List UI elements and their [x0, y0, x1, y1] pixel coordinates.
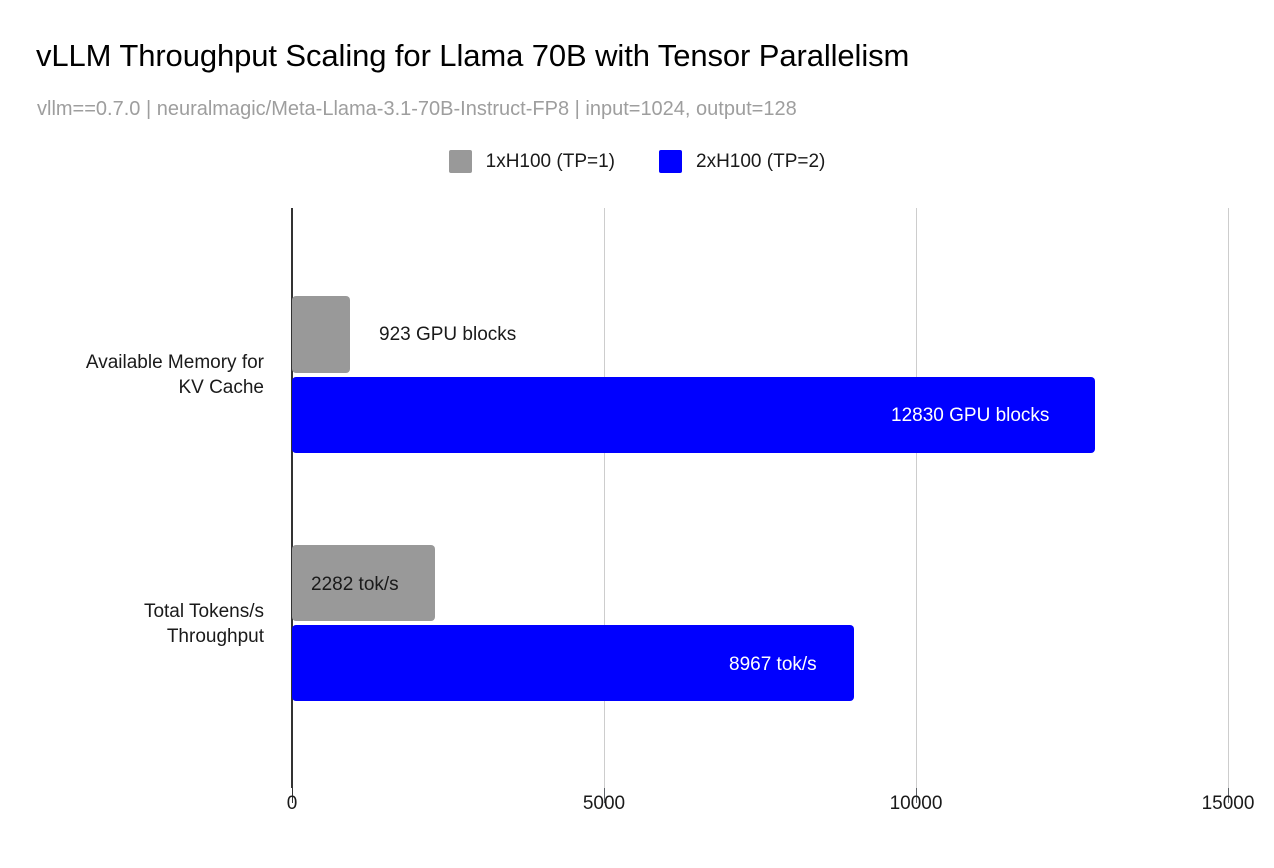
chart-title: vLLM Throughput Scaling for Llama 70B wi…	[36, 38, 909, 74]
gridline-10000	[916, 208, 917, 788]
legend-swatch-gray	[449, 150, 472, 173]
chart-legend: 1xH100 (TP=1) 2xH100 (TP=2)	[0, 150, 1274, 173]
gridline-15000	[1228, 208, 1229, 788]
bar-label-kv-cache-tp1: 923 GPU blocks	[379, 325, 516, 344]
bar-label-throughput-tp2: 8967 tok/s	[729, 655, 817, 674]
legend-label-1xh100: 1xH100 (TP=1)	[486, 151, 615, 173]
bar-label-kv-cache-tp2: 12830 GPU blocks	[891, 406, 1049, 425]
chart-subtitle: vllm==0.7.0 | neuralmagic/Meta-Llama-3.1…	[37, 98, 797, 121]
tick-label-10000: 10000	[890, 793, 943, 815]
tick-label-15000: 15000	[1202, 793, 1255, 815]
plot-area	[292, 208, 1228, 788]
category-label-kv-cache-line2: KV Cache	[24, 375, 264, 400]
bar-kv-cache-tp1[interactable]	[292, 296, 350, 373]
tick-label-5000: 5000	[583, 793, 625, 815]
tick-label-0: 0	[287, 793, 298, 815]
category-label-kv-cache-line1: Available Memory for	[24, 350, 264, 375]
gridline-5000	[604, 208, 605, 788]
category-label-kv-cache: Available Memory for KV Cache	[24, 350, 264, 400]
category-label-throughput-line2: Throughput	[24, 624, 264, 649]
category-label-throughput: Total Tokens/s Throughput	[24, 599, 264, 649]
legend-entry-2xh100[interactable]: 2xH100 (TP=2)	[659, 150, 825, 173]
legend-swatch-blue	[659, 150, 682, 173]
bar-label-throughput-tp1: 2282 tok/s	[311, 575, 399, 594]
category-label-throughput-line1: Total Tokens/s	[24, 599, 264, 624]
legend-entry-1xh100[interactable]: 1xH100 (TP=1)	[449, 150, 615, 173]
y-axis-line	[291, 208, 293, 788]
legend-label-2xh100: 2xH100 (TP=2)	[696, 151, 825, 173]
